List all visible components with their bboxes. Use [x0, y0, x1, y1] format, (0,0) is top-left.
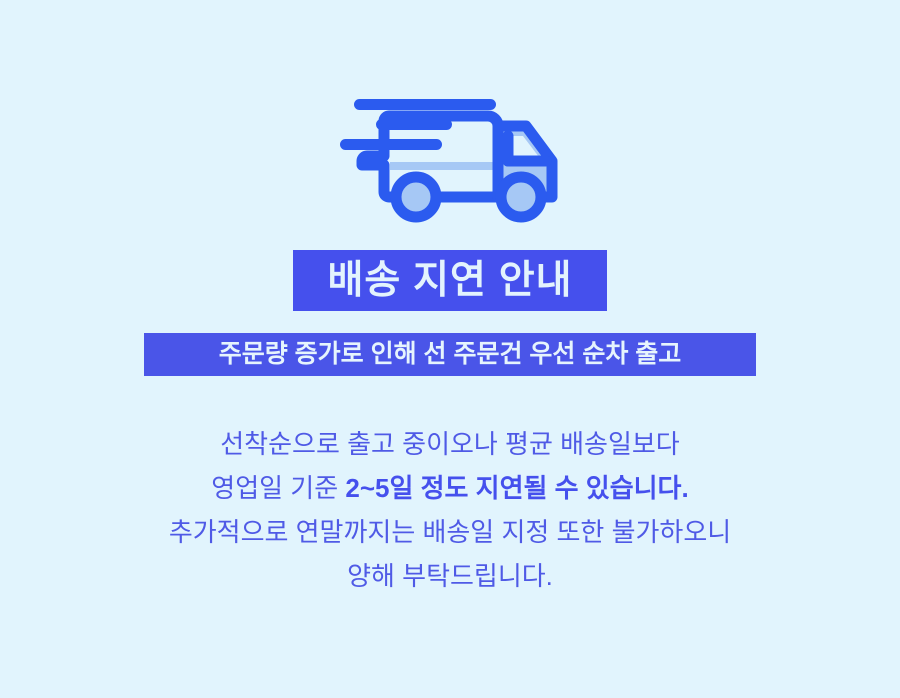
subtitle-banner: 주문량 증가로 인해 선 주문건 우선 순차 출고	[144, 333, 756, 376]
truck-rear-wheel	[396, 177, 436, 217]
title-banner: 배송 지연 안내	[293, 250, 607, 311]
page-title: 배송 지연 안내	[328, 261, 573, 300]
speed-line-top	[354, 99, 496, 110]
speed-line-bottom	[340, 139, 442, 150]
notice-line-2-emphasis: 2~5일 정도 지연될 수 있습니다.	[345, 473, 688, 503]
notice-line-2: 영업일 기준 2~5일 정도 지연될 수 있습니다.	[0, 466, 900, 510]
notice-line-4: 양해 부탁드립니다.	[0, 554, 900, 598]
delivery-truck-icon	[340, 93, 560, 223]
delivery-delay-notice-page: 배송 지연 안내 주문량 증가로 인해 선 주문건 우선 순차 출고 선착순으로…	[0, 0, 900, 698]
notice-line-3: 추가적으로 연말까지는 배송일 지정 또한 불가하오니	[0, 510, 900, 554]
notice-line-2-text: 영업일 기준	[211, 473, 345, 503]
page-subtitle: 주문량 증가로 인해 선 주문건 우선 순차 출고	[219, 342, 682, 367]
notice-line-3-text: 추가적으로 연말까지는 배송일 지정 또한 불가하오니	[169, 517, 731, 547]
truck-front-wheel	[501, 177, 541, 217]
notice-line-1: 선착순으로 출고 중이오나 평균 배송일보다	[0, 422, 900, 466]
notice-line-1-text: 선착순으로 출고 중이오나 평균 배송일보다	[220, 429, 679, 459]
delivery-truck-illustration	[330, 88, 570, 228]
notice-line-4-text: 양해 부탁드립니다.	[347, 561, 553, 591]
truck-body-stripe	[390, 162, 493, 170]
notice-body: 선착순으로 출고 중이오나 평균 배송일보다 영업일 기준 2~5일 정도 지연…	[0, 422, 900, 598]
